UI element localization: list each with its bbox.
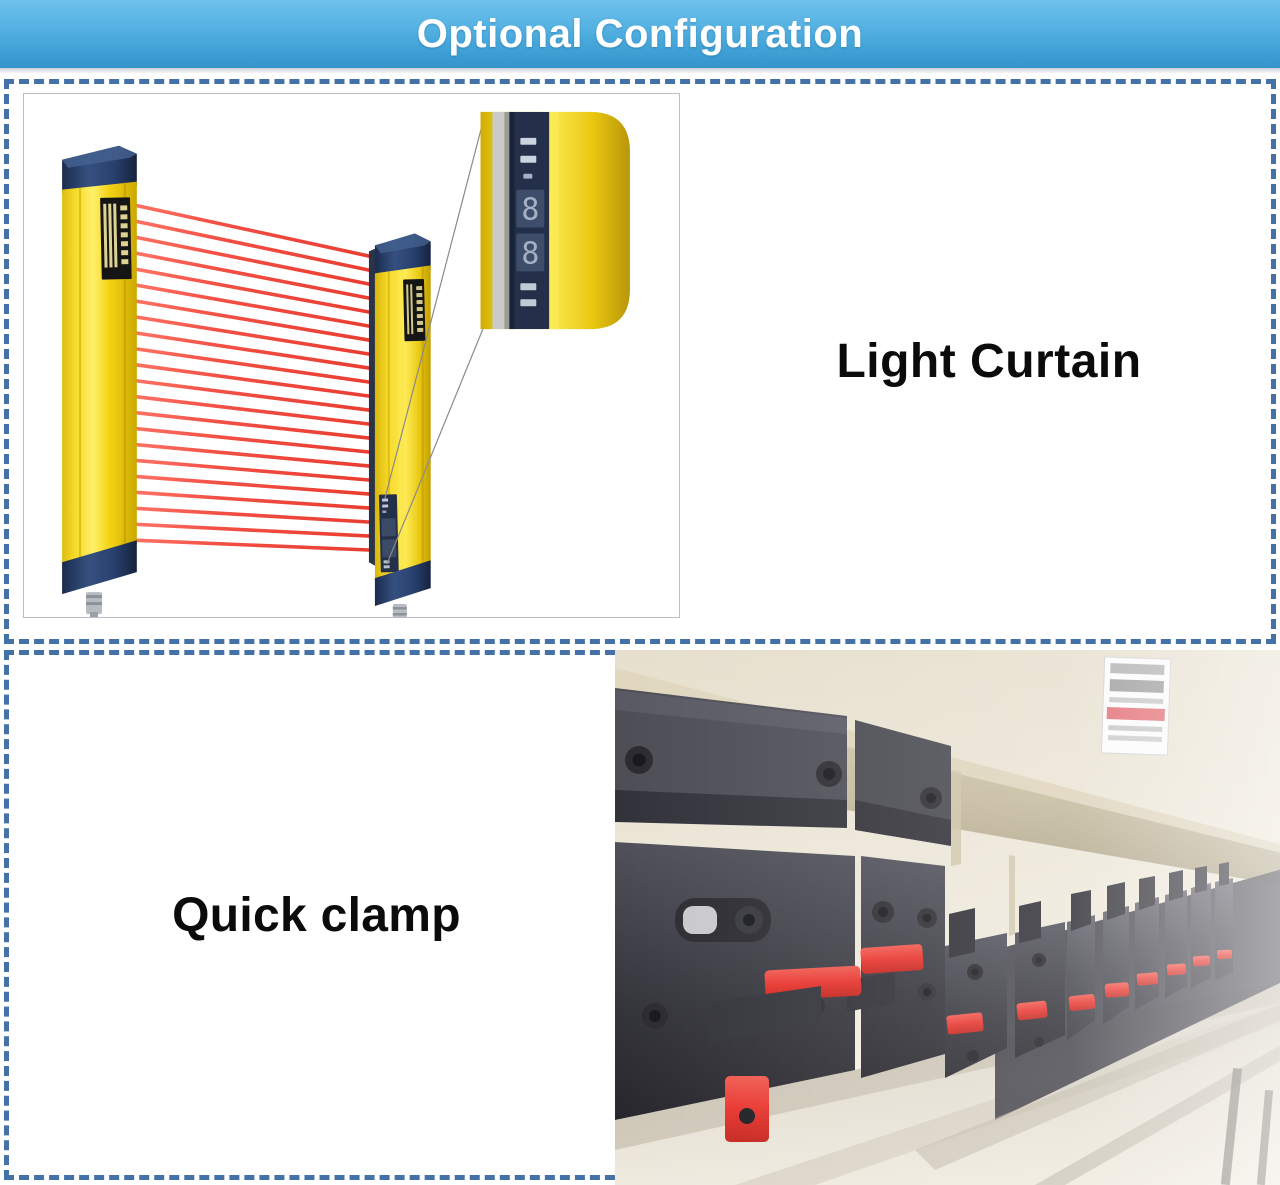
quick-clamp-caption: Quick clamp: [19, 655, 614, 1175]
section-quick-clamp: Quick clamp: [4, 650, 1276, 1180]
header-banner: Optional Configuration: [0, 0, 1280, 68]
light-curtain-row: 8 8 Light Curtain: [9, 84, 1271, 639]
light-curtain-illustration: 8 8: [24, 94, 679, 617]
light-curtain-transmitter: [62, 146, 137, 617]
quick-clamp-caption-text: Quick clamp: [172, 888, 461, 943]
light-curtain-receiver: [369, 233, 431, 617]
page-title: Optional Configuration: [417, 14, 864, 54]
section-light-curtain: 8 8 Light Curtain: [4, 79, 1276, 644]
svg-text:8: 8: [521, 193, 539, 228]
quick-clamp-photo: [615, 650, 1280, 1185]
transmitter-brand-label: [100, 197, 132, 279]
quick-clamp-photo-illustration: [615, 650, 1280, 1185]
light-curtain-caption: Light Curtain: [709, 84, 1269, 639]
svg-text:8: 8: [521, 236, 539, 271]
light-curtain-image-frame: 8 8: [23, 93, 680, 618]
light-curtain-caption-text: Light Curtain: [836, 334, 1141, 389]
receiver-display-callout: 8 8: [481, 104, 630, 343]
receiver-brand-label: [403, 279, 425, 341]
header-underline-divider: [0, 68, 1280, 73]
